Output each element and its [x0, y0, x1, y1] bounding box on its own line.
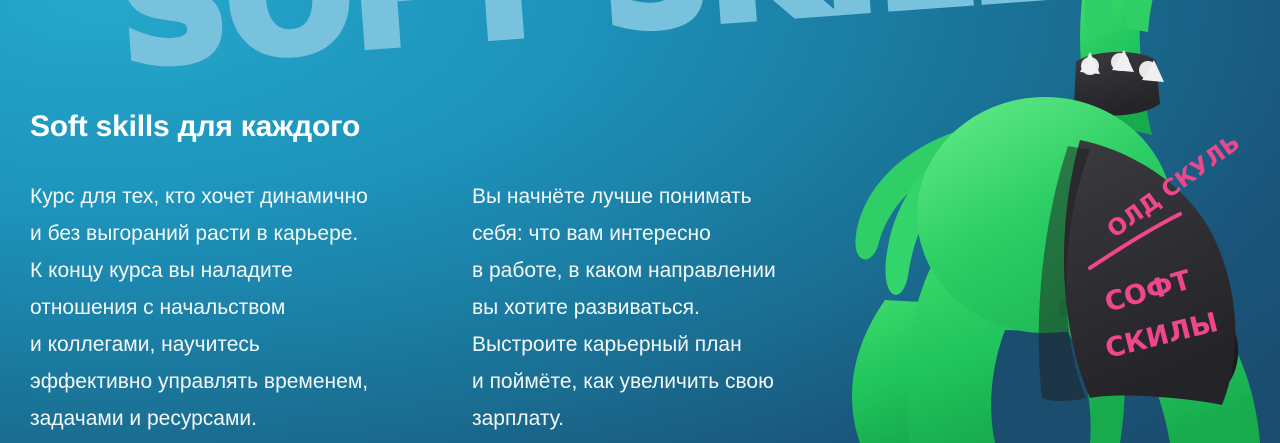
- promo-banner: SOFT SKILLS Soft skills для каждого Курс…: [0, 0, 1280, 443]
- description-column-right: Вы начнёте лучше понимать себя: что вам …: [472, 178, 872, 437]
- description-column-left: Курс для тех, кто хочет динамично и без …: [30, 178, 460, 437]
- description-text-left: Курс для тех, кто хочет динамично и без …: [30, 178, 460, 437]
- page-title: Soft skills для каждого: [30, 110, 360, 144]
- description-text-right: Вы начнёте лучше понимать себя: что вам …: [472, 178, 872, 437]
- content-area: Soft skills для каждого Курс для тех, кт…: [0, 0, 900, 443]
- character-shirt: ОЛД СКУЛЬ СОФТ СКИЛЫ: [1039, 130, 1245, 405]
